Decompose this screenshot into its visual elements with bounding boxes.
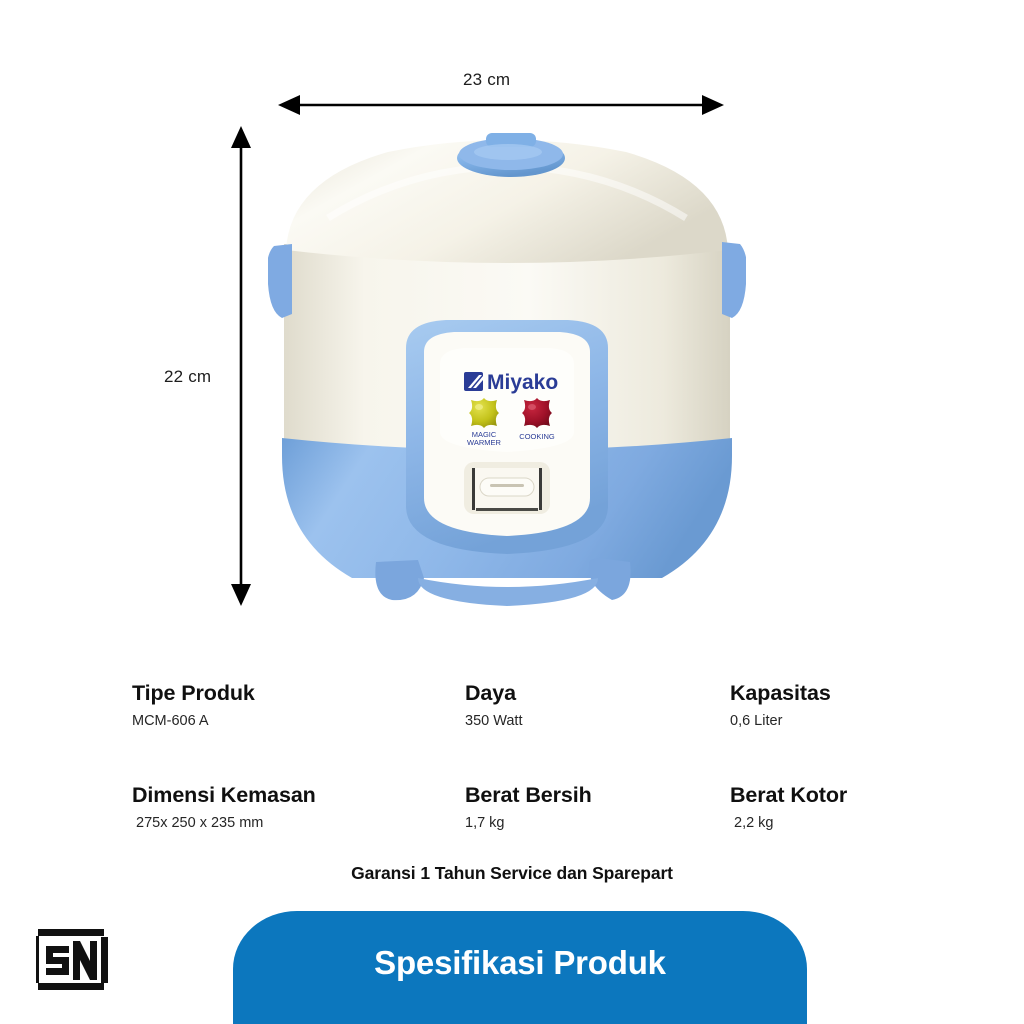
- spec-cell-dimensi-kemasan: Dimensi Kemasan 275x 250 x 235 mm: [132, 783, 465, 832]
- spec-value: 2,2 kg: [730, 815, 922, 832]
- specification-grid: Tipe Produk MCM-606 A Daya 350 Watt Kapa…: [132, 681, 922, 832]
- warranty-text: Garansi 1 Tahun Service dan Sparepart: [0, 863, 1024, 884]
- spec-cell-daya: Daya 350 Watt: [465, 681, 730, 730]
- spec-value: MCM-606 A: [132, 713, 465, 730]
- spec-title: Kapasitas: [730, 681, 922, 706]
- sni-certification-icon: [36, 913, 114, 1005]
- spec-value: 0,6 Liter: [730, 713, 922, 730]
- product-base-band: [418, 578, 598, 606]
- spec-row: Dimensi Kemasan 275x 250 x 235 mm Berat …: [132, 783, 922, 832]
- spec-row: Tipe Produk MCM-606 A Daya 350 Watt Kapa…: [132, 681, 922, 730]
- spec-cell-tipe-produk: Tipe Produk MCM-606 A: [132, 681, 465, 730]
- product-image-rice-cooker: Miyako MAGIC WARMER COOKING: [268, 126, 746, 614]
- double-arrow-horizontal-icon: [278, 92, 724, 118]
- spec-cell-berat-kotor: Berat Kotor 2,2 kg: [730, 783, 922, 832]
- spec-title: Tipe Produk: [132, 681, 465, 706]
- spec-title: Dimensi Kemasan: [132, 783, 465, 808]
- dimension-height-label: 22 cm: [164, 367, 211, 387]
- spec-value: 350 Watt: [465, 713, 730, 730]
- indicator-cooking-label: COOKING: [519, 432, 555, 441]
- spec-title: Berat Kotor: [730, 783, 922, 808]
- miyako-logo-icon: Miyako: [464, 371, 558, 394]
- spec-cell-kapasitas: Kapasitas 0,6 Liter: [730, 681, 922, 730]
- product-foot-left: [375, 560, 424, 600]
- indicator-magic-warmer-label-2: WARMER: [467, 438, 501, 447]
- product-latch-right: [722, 242, 746, 318]
- spec-title: Daya: [465, 681, 730, 706]
- product-latch-left: [268, 244, 292, 318]
- spec-value: 1,7 kg: [465, 815, 730, 832]
- specification-banner[interactable]: Spesifikasi Produk: [233, 911, 807, 1024]
- product-cook-switch: [464, 462, 550, 514]
- spec-value: 275x 250 x 235 mm: [132, 815, 465, 832]
- dimension-width-label: 23 cm: [463, 70, 510, 90]
- spec-title: Berat Bersih: [465, 783, 730, 808]
- spec-cell-berat-bersih: Berat Bersih 1,7 kg: [465, 783, 730, 832]
- double-arrow-vertical-icon: [228, 126, 254, 606]
- svg-text:Miyako: Miyako: [487, 371, 558, 394]
- specification-banner-label: Spesifikasi Produk: [374, 944, 666, 982]
